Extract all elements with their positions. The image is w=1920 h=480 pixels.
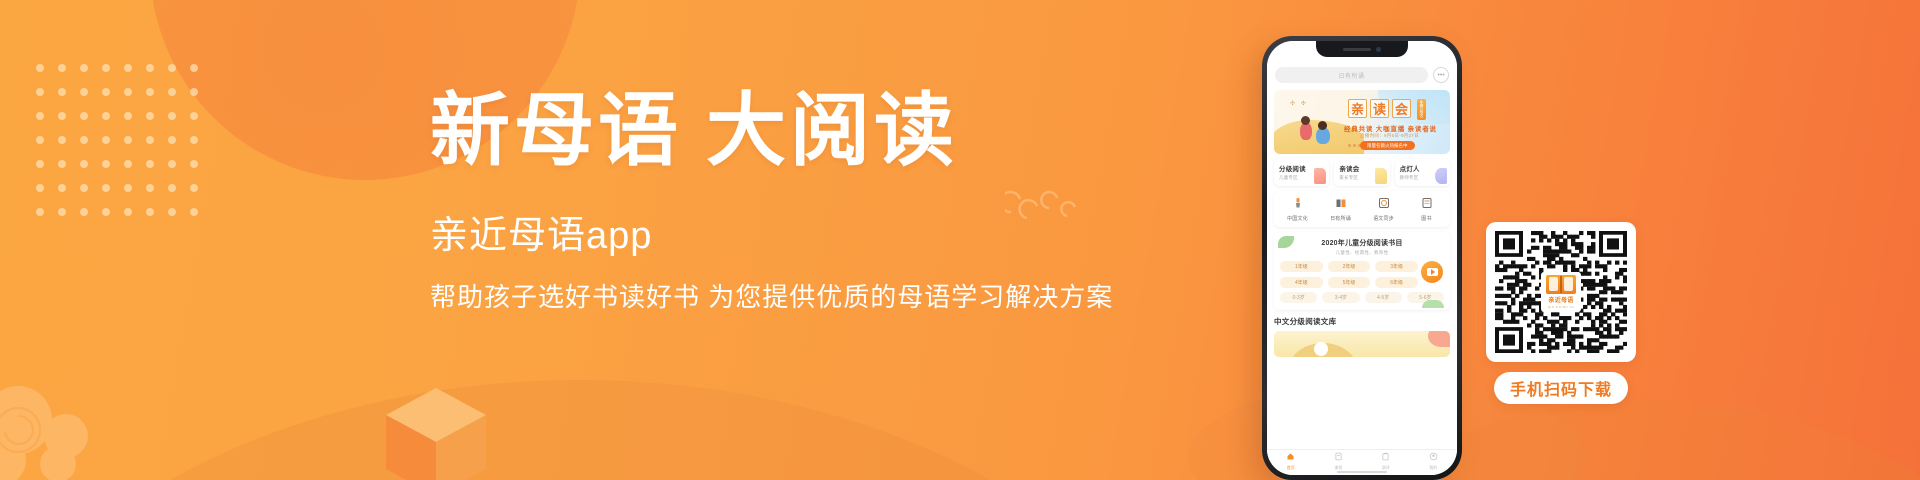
- category-card-graded-reading[interactable]: 分级阅读 儿童专区: [1274, 159, 1329, 186]
- booklist-section: 2020年儿童分级阅读书目 儿童性、经典性、教育性 1年级 2年级 3年级 4年…: [1274, 232, 1450, 310]
- phone-screen-frame: 日有所诵 ••• ✣ ✣ 亲 读 会 免费报名 经典: [1267, 41, 1457, 475]
- bottom-tab-bar: 首页 课程 测评: [1267, 449, 1457, 475]
- tab-label: 测评: [1382, 465, 1390, 471]
- app-name-subtitle: 亲近母语app: [430, 216, 1150, 258]
- library-section: 中文分级阅读文库: [1274, 316, 1450, 357]
- quick-link-chinese-culture[interactable]: 中国文化: [1276, 197, 1319, 222]
- library-decor-shape: [1428, 331, 1450, 347]
- open-book-logo-icon: [1546, 275, 1576, 294]
- quick-link-daily-recitation[interactable]: 日有所诵: [1319, 197, 1362, 222]
- open-book-icon: [1335, 197, 1347, 212]
- grade-chip-row-1: 1年级 2年级 3年级: [1280, 261, 1444, 272]
- grade-chip-row-2: 4年级 5年级 6年级: [1280, 277, 1444, 288]
- hero-subtitle: 经典共读 大咖直播 亲读者说: [1344, 123, 1437, 133]
- video-play-icon[interactable]: [1421, 261, 1443, 283]
- quick-link-label: 语文同步: [1373, 215, 1394, 222]
- category-cards: 分级阅读 儿童专区 亲读会 家长专区 点灯人 教师专区: [1267, 154, 1457, 186]
- qr-card: 亲近母语 QIN JIN MU YU: [1486, 222, 1636, 362]
- yellow-book-icon: [1375, 168, 1387, 184]
- promo-banner: 新母语 大阅读 亲近母语app 帮助孩子选好书读好书 为您提供优质的母语学习解决…: [0, 0, 1920, 480]
- category-card-parent-club[interactable]: 亲读会 家长专区: [1334, 159, 1389, 186]
- tab-label: 我的: [1429, 465, 1437, 471]
- hero-cta-button[interactable]: 限量名额火热报名中: [1360, 141, 1415, 150]
- more-dots-icon[interactable]: •••: [1433, 67, 1449, 83]
- leaf-decor-icon: [1422, 300, 1444, 308]
- banner-tagline: 帮助孩子选好书读好书 为您提供优质的母语学习解决方案: [430, 282, 1150, 313]
- red-book-icon: [1314, 168, 1326, 184]
- quick-link-label: 日有所诵: [1330, 215, 1351, 222]
- quick-link-books[interactable]: 图书: [1405, 197, 1448, 222]
- decorative-arc-bottom: [0, 380, 1220, 480]
- quick-link-label: 中国文化: [1287, 215, 1308, 222]
- hero-title-char: 读: [1370, 99, 1389, 118]
- grade-chip[interactable]: 1年级: [1280, 261, 1323, 272]
- ink-brush-icon: [1292, 197, 1304, 212]
- page-title: 新母语 大阅读: [430, 92, 1150, 172]
- grade-chip[interactable]: 2年级: [1328, 261, 1371, 272]
- age-chip[interactable]: 3-4岁: [1322, 292, 1359, 303]
- download-button[interactable]: 手机扫码下载: [1494, 372, 1628, 404]
- tab-label: 首页: [1287, 465, 1295, 471]
- hero-child-illustration-a: [1300, 122, 1312, 140]
- app-screen: 日有所诵 ••• ✣ ✣ 亲 读 会 免费报名 经典: [1267, 41, 1457, 475]
- quick-link-label: 图书: [1421, 215, 1431, 222]
- grade-chip[interactable]: 4年级: [1280, 277, 1323, 288]
- grade-chip[interactable]: 6年级: [1375, 277, 1418, 288]
- category-card-teacher[interactable]: 点灯人 教师专区: [1395, 159, 1450, 186]
- booklist-title: 2020年儿童分级阅读书目: [1280, 238, 1444, 248]
- speaker-grille-icon: [1343, 48, 1371, 51]
- hero-birds-icon: ✣ ✣: [1290, 100, 1308, 107]
- front-camera-icon: [1376, 47, 1381, 52]
- purple-book-icon: [1435, 168, 1447, 184]
- decorative-cloud-icon: [0, 368, 130, 480]
- book-icon: [1421, 197, 1433, 212]
- qr-code-image: 亲近母语 QIN JIN MU YU: [1495, 231, 1627, 353]
- course-icon: [1334, 452, 1343, 463]
- decorative-dot-grid: [36, 64, 212, 232]
- hero-side-tag: 免费报名: [1417, 99, 1426, 120]
- hero-title-char: 亲: [1348, 99, 1367, 118]
- tab-home[interactable]: 首页: [1267, 452, 1315, 471]
- library-sun-shape: [1314, 342, 1328, 356]
- brand-name: 亲近母语: [1548, 295, 1573, 304]
- age-chip[interactable]: 0-3岁: [1280, 292, 1317, 303]
- sync-circle-icon: [1378, 197, 1390, 212]
- hero-date-line: 直播时间：9月6日-9月27日: [1360, 133, 1419, 139]
- hero-title: 亲 读 会 免费报名: [1348, 99, 1426, 120]
- quick-icon-row: 中国文化 日有所诵 语文同步: [1274, 191, 1450, 227]
- brand-pinyin: QIN JIN MU YU: [1548, 305, 1574, 309]
- brand-logo: 亲近母语 QIN JIN MU YU: [1541, 272, 1581, 312]
- library-card[interactable]: [1274, 331, 1450, 357]
- age-chip-row: 0-3岁 3-4岁 4-5岁 5-6岁: [1280, 292, 1444, 303]
- tab-label: 课程: [1334, 465, 1342, 471]
- booklist-subtitle: 儿童性、经典性、教育性: [1280, 250, 1444, 256]
- library-heading: 中文分级阅读文库: [1274, 316, 1450, 327]
- search-input[interactable]: 日有所诵: [1275, 67, 1428, 83]
- tab-assessment[interactable]: 测评: [1362, 452, 1410, 471]
- age-chip[interactable]: 4-5岁: [1365, 292, 1402, 303]
- clipboard-icon: [1381, 452, 1390, 463]
- tab-course[interactable]: 课程: [1315, 452, 1363, 471]
- home-indicator: [1337, 471, 1387, 473]
- banner-copy: 新母语 大阅读 亲近母语app 帮助孩子选好书读好书 为您提供优质的母语学习解决…: [430, 92, 1150, 313]
- play-screen-shape: [1427, 268, 1438, 276]
- phone-mockup: 日有所诵 ••• ✣ ✣ 亲 读 会 免费报名 经典: [1262, 36, 1462, 480]
- home-icon: [1286, 452, 1295, 463]
- hero-banner[interactable]: ✣ ✣ 亲 读 会 免费报名 经典共读 大咖直播 亲读者说 直播时间：9月6日-…: [1274, 90, 1450, 154]
- hero-child-illustration-b: [1316, 127, 1330, 144]
- search-placeholder: 日有所诵: [1338, 71, 1364, 80]
- phone-notch: [1316, 41, 1408, 57]
- grade-chip[interactable]: 3年级: [1375, 261, 1418, 272]
- decorative-cube-icon: [386, 388, 486, 480]
- quick-link-textbook-sync[interactable]: 语文同步: [1362, 197, 1405, 222]
- grade-chip[interactable]: 5年级: [1328, 277, 1371, 288]
- hero-title-char: 会: [1392, 99, 1411, 118]
- tab-profile[interactable]: 我的: [1410, 452, 1458, 471]
- qr-download-block: 亲近母语 QIN JIN MU YU 手机扫码下载: [1486, 222, 1636, 404]
- search-row: 日有所诵 •••: [1267, 61, 1457, 87]
- user-icon: [1429, 452, 1438, 463]
